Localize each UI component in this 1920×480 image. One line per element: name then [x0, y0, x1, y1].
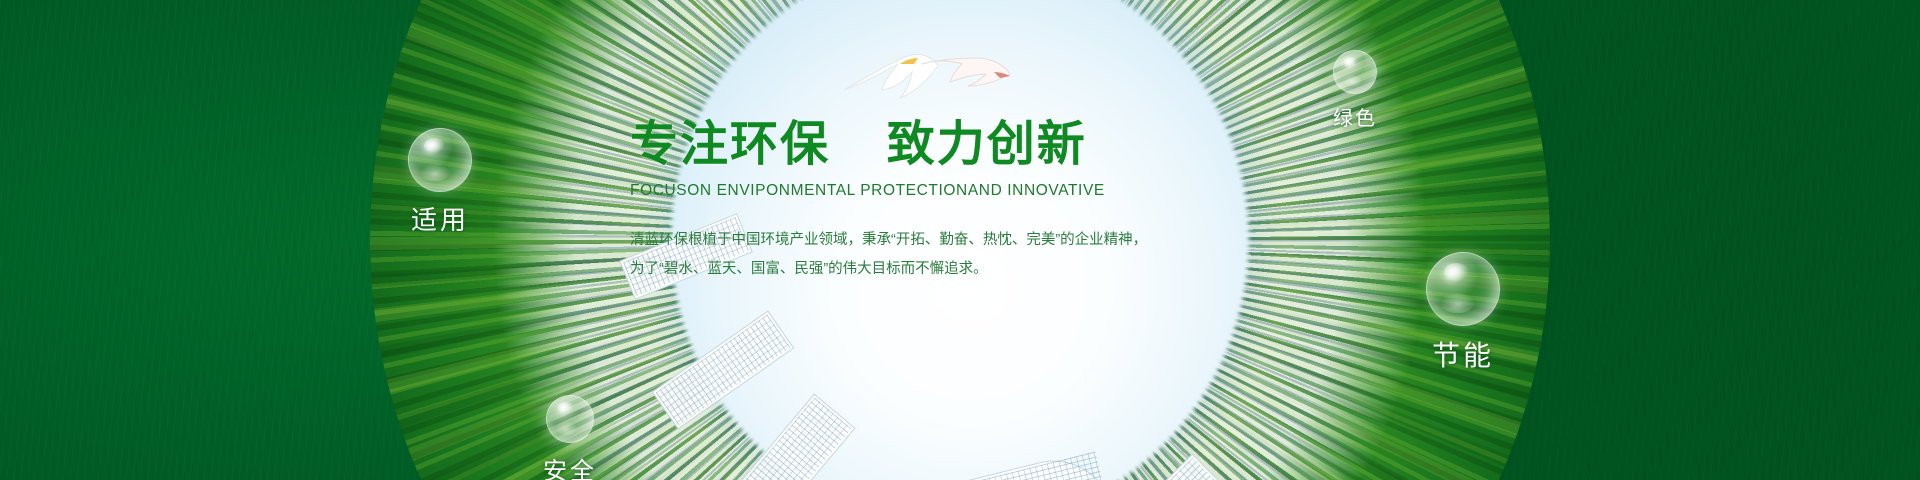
bubble-sphere	[1426, 252, 1500, 326]
description-line-1: 清蓝环保根植于中国环境产业领域，秉承“开拓、勤奋、热忱、完美”的企业精神，	[630, 226, 1270, 255]
bubble-label: 适用	[382, 200, 498, 237]
subheadline: FOCUSON ENVIPONMENTAL PROTECTIONAND INNO…	[630, 182, 1270, 200]
bubble-shiyong[interactable]: 适用	[382, 128, 498, 237]
headline-part1: 专注环保	[630, 118, 830, 171]
banner-copy: 专注环保 致力创新 FOCUSON ENVIPONMENTAL PROTECTI…	[630, 118, 1270, 284]
description-paragraph: 清蓝环保根植于中国环境产业领域，秉承“开拓、勤奋、热忱、完美”的企业精神， 为了…	[630, 226, 1270, 284]
seagull-right	[920, 42, 1016, 94]
bubble-sphere	[1333, 50, 1377, 94]
bubble-label: 安全	[512, 451, 628, 480]
bubble-jieneng[interactable]: 节能	[1398, 252, 1528, 374]
page-title: 专注环保 致力创新	[630, 118, 1270, 172]
bubble-label: 节能	[1398, 334, 1528, 374]
bubble-sphere	[546, 395, 594, 443]
bubble-anquan[interactable]: 安全	[512, 395, 628, 480]
bubble-sphere	[408, 128, 472, 192]
bubble-label: 绿色	[1300, 102, 1410, 131]
bubble-lvse[interactable]: 绿色	[1300, 50, 1410, 131]
headline-part2: 致力创新	[887, 118, 1087, 171]
description-line-2: 为了“碧水、蓝天、国富、民强”的伟大目标而不懈追求。	[630, 255, 1270, 284]
environmental-hero-banner: 适用 安全 绿色 节能 专注环保 致力创新 FOCUSON ENVIPONMEN…	[0, 0, 1920, 480]
